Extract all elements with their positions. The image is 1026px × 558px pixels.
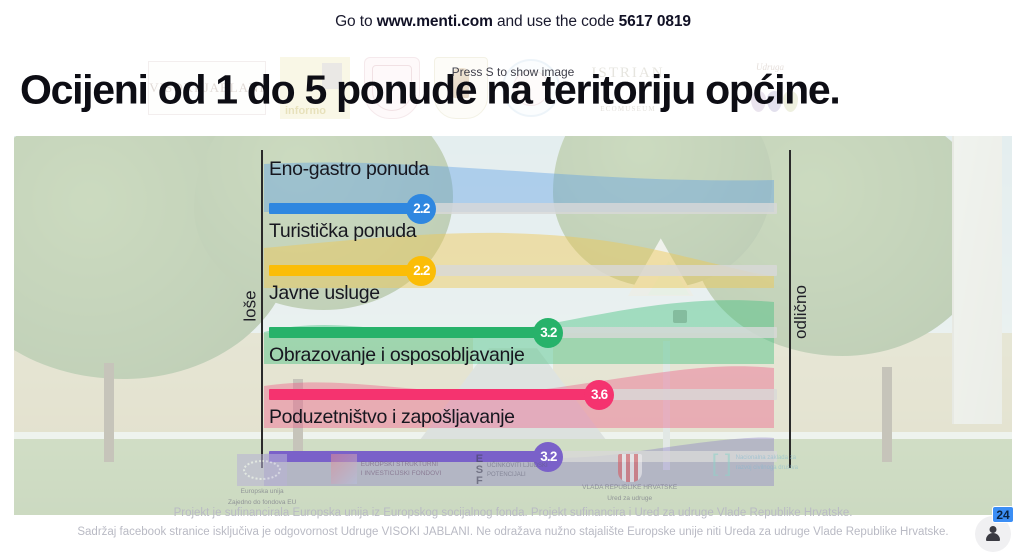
bar-label: Javne usluge	[269, 282, 380, 305]
bar-value-badge: 2.2	[406, 194, 436, 224]
menti-join-bar: Go to www.menti.com and use the code 561…	[0, 0, 1026, 44]
mentimeter-presentation: Go to www.menti.com and use the code 561…	[0, 0, 1026, 558]
bar-fill	[269, 327, 548, 338]
bar-track: 3.2	[269, 327, 777, 338]
bar-label: Poduzetništvo i zapošljavanje	[269, 406, 515, 429]
slide-header: VISOKI JABLANI informo ISTRIAN ECOMUSEUM…	[0, 44, 1026, 136]
bar-value-badge: 3.2	[533, 442, 563, 472]
bar-row[interactable]: Eno-gastro ponuda 2.2	[269, 158, 779, 220]
bar-row[interactable]: Javne usluge 3.2	[269, 282, 779, 344]
chart-canvas: loše odlično Eno-gastro ponuda 2.2 Turis…	[14, 136, 1012, 515]
bar-track: 2.2	[269, 203, 777, 214]
bar-value-badge: 3.2	[533, 318, 563, 348]
menti-code: 5617 0819	[619, 13, 691, 30]
press-s-hint: Press S to show image	[0, 65, 1026, 79]
participant-count-badge: 24	[992, 506, 1014, 523]
bar-label: Eno-gastro ponuda	[269, 158, 429, 181]
bar-fill	[269, 203, 421, 214]
participant-counter[interactable]: 24	[972, 506, 1014, 552]
person-head-icon	[990, 526, 997, 533]
bar-fill	[269, 389, 599, 400]
bar-row[interactable]: Poduzetništvo i zapošljavanje 3.2	[269, 406, 779, 468]
bar-track: 2.2	[269, 265, 777, 276]
bar-label: Turistička ponuda	[269, 220, 416, 243]
menti-prefix: Go to	[335, 13, 377, 30]
bar-rows: Eno-gastro ponuda 2.2 Turistička ponuda …	[14, 136, 1012, 515]
menti-url[interactable]: www.menti.com	[377, 13, 493, 30]
bar-row[interactable]: Turistička ponuda 2.2	[269, 220, 779, 282]
menti-join-text: Go to www.menti.com and use the code 561…	[335, 13, 691, 31]
bar-track: 3.6	[269, 389, 777, 400]
bar-value-badge: 3.6	[584, 380, 614, 410]
bar-fill	[269, 265, 421, 276]
person-body-icon	[986, 533, 1000, 541]
bar-row[interactable]: Obrazovanje i osposobljavanje 3.6	[269, 344, 779, 406]
bar-track: 3.2	[269, 451, 777, 462]
credit-line-2: Sadržaj facebook stranice isključiva je …	[0, 523, 1026, 542]
bar-value-badge: 2.2	[406, 256, 436, 286]
menti-middle: and use the code	[493, 13, 619, 30]
bar-fill	[269, 451, 548, 462]
bar-label: Obrazovanje i osposobljavanje	[269, 344, 524, 367]
person-icon	[986, 526, 1000, 542]
